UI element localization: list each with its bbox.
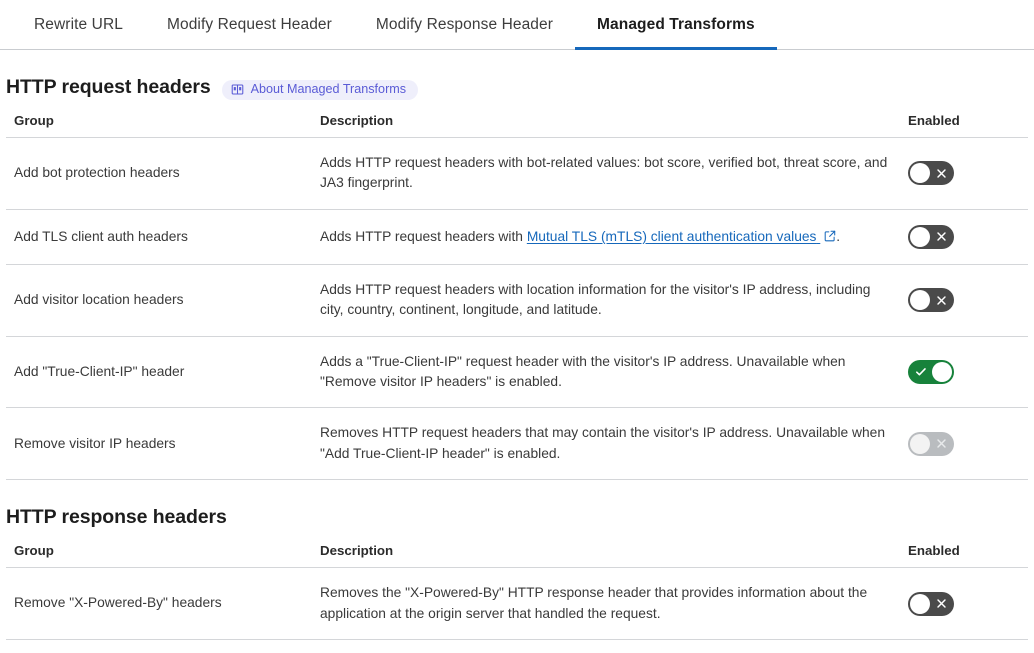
tab-label: Modify Request Header xyxy=(167,16,332,34)
row-description: Removes HTTP request headers that may co… xyxy=(312,408,900,480)
link-label: Mutual TLS (mTLS) client authentication … xyxy=(527,229,817,244)
row-description: Removes the "X-Powered-By" HTTP response… xyxy=(312,568,900,640)
row-enabled-cell xyxy=(900,408,1028,480)
column-header-enabled: Enabled xyxy=(900,113,1028,138)
http-request-headers-section: HTTP request headers About Managed Trans… xyxy=(0,50,1034,480)
toggle-knob xyxy=(910,290,930,310)
external-link-icon xyxy=(824,230,836,242)
toggle-knob xyxy=(910,163,930,183)
table-header-row: Group Description Enabled xyxy=(6,113,1028,138)
enabled-toggle[interactable] xyxy=(908,592,954,616)
tab-label: Managed Transforms xyxy=(597,16,755,34)
table-header-row: Group Description Enabled xyxy=(6,543,1028,568)
tab-rewrite-url[interactable]: Rewrite URL xyxy=(12,0,145,49)
column-header-group: Group xyxy=(6,113,312,138)
tab-label: Modify Response Header xyxy=(376,16,553,34)
table-row: Remove "X-Powered-By" headersRemoves the… xyxy=(6,568,1028,640)
enabled-toggle[interactable] xyxy=(908,360,954,384)
column-header-description: Description xyxy=(312,543,900,568)
description-text-after: . xyxy=(836,229,840,244)
row-enabled-cell xyxy=(900,209,1028,264)
close-icon xyxy=(936,161,947,185)
row-group-name: Add security headers xyxy=(6,640,312,653)
about-managed-transforms-badge[interactable]: About Managed Transforms xyxy=(222,80,418,100)
row-group-name: Add TLS client auth headers xyxy=(6,209,312,264)
mtls-docs-link[interactable]: Mutual TLS (mTLS) client authentication … xyxy=(527,229,836,244)
tab-bar: Rewrite URLModify Request HeaderModify R… xyxy=(0,0,1034,50)
row-description: Adds HTTP request headers with location … xyxy=(312,264,900,336)
row-description: Adds HTTP request headers with Mutual TL… xyxy=(312,209,900,264)
close-icon xyxy=(936,288,947,312)
check-icon xyxy=(915,360,927,384)
about-managed-transforms-label: About Managed Transforms xyxy=(251,83,406,96)
request-section-header: HTTP request headers About Managed Trans… xyxy=(6,50,1028,113)
tab-label: Rewrite URL xyxy=(34,16,123,34)
close-icon xyxy=(936,592,947,616)
http-response-headers-section: HTTP response headers Group Description … xyxy=(0,480,1034,653)
description-text: Adds HTTP request headers with xyxy=(320,229,527,244)
tab-modify-response-header[interactable]: Modify Response Header xyxy=(354,0,575,49)
table-row: Add security headersAdds several securit… xyxy=(6,640,1028,653)
enabled-toggle[interactable] xyxy=(908,161,954,185)
close-icon xyxy=(936,225,947,249)
table-row: Add TLS client auth headersAdds HTTP req… xyxy=(6,209,1028,264)
row-description: Adds several security-related HTTP respo… xyxy=(312,640,900,653)
column-header-enabled: Enabled xyxy=(900,543,1028,568)
table-row: Add bot protection headersAdds HTTP requ… xyxy=(6,138,1028,210)
row-enabled-cell xyxy=(900,640,1028,653)
toggle-knob xyxy=(932,362,952,382)
table-row: Add visitor location headersAdds HTTP re… xyxy=(6,264,1028,336)
response-section-title: HTTP response headers xyxy=(6,506,227,529)
row-group-name: Remove visitor IP headers xyxy=(6,408,312,480)
toggle-knob xyxy=(910,434,930,454)
tab-managed-transforms[interactable]: Managed Transforms xyxy=(575,0,777,49)
row-enabled-cell xyxy=(900,336,1028,408)
enabled-toggle[interactable] xyxy=(908,225,954,249)
row-enabled-cell xyxy=(900,568,1028,640)
row-group-name: Add bot protection headers xyxy=(6,138,312,210)
response-headers-table: Group Description Enabled Remove "X-Powe… xyxy=(6,543,1028,653)
row-description: Adds HTTP request headers with bot-relat… xyxy=(312,138,900,210)
column-header-description: Description xyxy=(312,113,900,138)
table-row: Add "True-Client-IP" headerAdds a "True-… xyxy=(6,336,1028,408)
column-header-group: Group xyxy=(6,543,312,568)
toggle-knob xyxy=(910,594,930,614)
page-title: HTTP request headers xyxy=(6,76,211,99)
row-description: Adds a "True-Client-IP" request header w… xyxy=(312,336,900,408)
response-section-header: HTTP response headers xyxy=(6,480,1028,543)
enabled-toggle xyxy=(908,432,954,456)
book-icon xyxy=(231,83,244,96)
row-group-name: Add "True-Client-IP" header xyxy=(6,336,312,408)
row-enabled-cell xyxy=(900,264,1028,336)
enabled-toggle[interactable] xyxy=(908,288,954,312)
row-enabled-cell xyxy=(900,138,1028,210)
request-headers-table: Group Description Enabled Add bot protec… xyxy=(6,113,1028,480)
table-row: Remove visitor IP headersRemoves HTTP re… xyxy=(6,408,1028,480)
tab-modify-request-header[interactable]: Modify Request Header xyxy=(145,0,354,49)
row-group-name: Remove "X-Powered-By" headers xyxy=(6,568,312,640)
toggle-knob xyxy=(910,227,930,247)
close-icon xyxy=(936,432,947,456)
row-group-name: Add visitor location headers xyxy=(6,264,312,336)
